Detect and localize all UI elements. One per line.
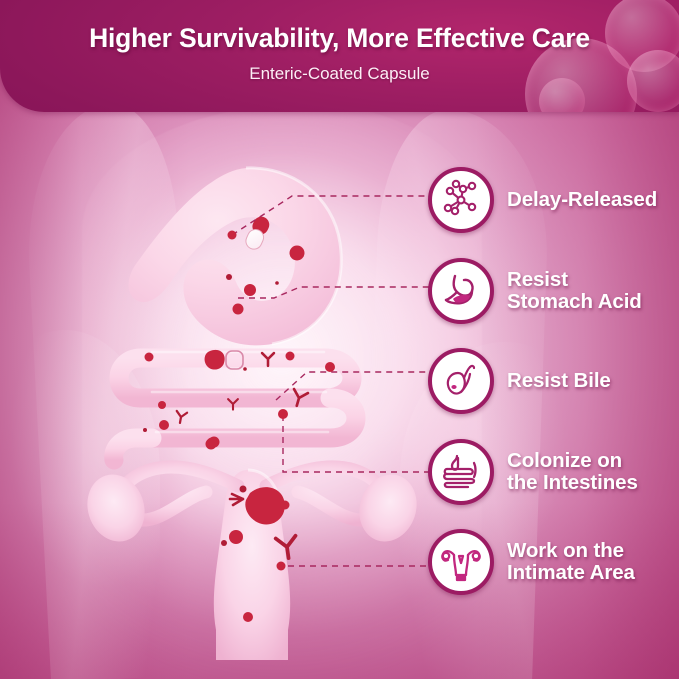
feature-label: Resist Stomach Acid	[507, 269, 642, 312]
intestines-icon[interactable]	[428, 439, 494, 505]
feature-item-colonize-intestines[interactable]: Colonize on the Intestines	[428, 439, 638, 505]
feature-label: Resist Bile	[507, 370, 611, 392]
uterus-icon[interactable]	[428, 529, 494, 595]
bubble-decoration	[479, 0, 679, 112]
feature-label: Work on the Intimate Area	[507, 540, 635, 583]
page-title: Higher Survivability, More Effective Car…	[0, 23, 679, 54]
feature-label: Delay-Released	[507, 189, 657, 211]
header-banner: Higher Survivability, More Effective Car…	[0, 0, 679, 112]
page-subtitle: Enteric-Coated Capsule	[0, 64, 679, 84]
feature-item-resist-stomach-acid[interactable]: Resist Stomach Acid	[428, 258, 642, 324]
molecule-icon[interactable]	[428, 167, 494, 233]
infographic-poster: Higher Survivability, More Effective Car…	[0, 0, 679, 679]
feature-item-resist-bile[interactable]: Resist Bile	[428, 348, 611, 414]
gallbladder-icon[interactable]	[428, 348, 494, 414]
feature-label: Colonize on the Intestines	[507, 450, 638, 493]
feature-item-delay-released[interactable]: Delay-Released	[428, 167, 657, 233]
stomach-icon[interactable]	[428, 258, 494, 324]
feature-item-work-intimate-area[interactable]: Work on the Intimate Area	[428, 529, 635, 595]
